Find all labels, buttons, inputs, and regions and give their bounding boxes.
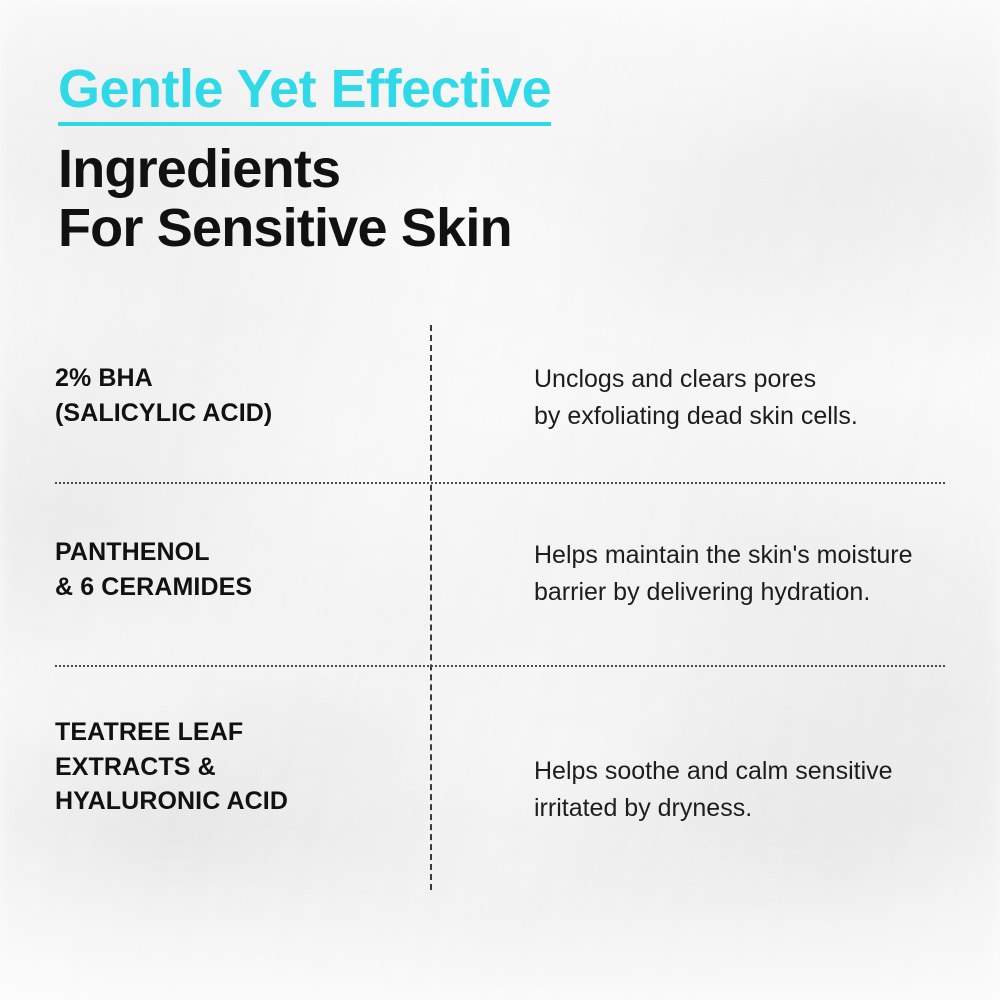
page-title-line-1: Ingredients bbox=[58, 140, 551, 199]
row-divider-2 bbox=[55, 665, 945, 667]
table-row: 2% BHA (SALICYLIC ACID) Unclogs and clea… bbox=[55, 361, 945, 434]
ingredient-description-line: barrier by delivering hydration. bbox=[534, 574, 945, 611]
row-divider-1 bbox=[55, 482, 945, 484]
ingredients-table: 2% BHA (SALICYLIC ACID) Unclogs and clea… bbox=[55, 325, 945, 890]
page-title-accent: Gentle Yet Effective bbox=[58, 62, 551, 126]
ingredient-name-line: (SALICYLIC ACID) bbox=[55, 396, 406, 431]
infographic-canvas: Gentle Yet Effective Ingredients For Sen… bbox=[0, 0, 1000, 1000]
ingredient-name-line: HYALURONIC ACID bbox=[55, 784, 406, 819]
ingredient-name-line: 2% BHA bbox=[55, 361, 406, 396]
ingredient-name: 2% BHA (SALICYLIC ACID) bbox=[55, 361, 430, 434]
ingredient-description: Unclogs and clears pores by exfoliating … bbox=[430, 361, 945, 434]
ingredient-description-line: Unclogs and clears pores bbox=[534, 361, 945, 398]
table-row: TEATREE LEAF EXTRACTS & HYALURONIC ACID … bbox=[55, 715, 945, 826]
ingredient-description: Helps maintain the skin's moisture barri… bbox=[430, 535, 945, 610]
table-row: PANTHENOL & 6 CERAMIDES Helps maintain t… bbox=[55, 535, 945, 610]
ingredient-name: TEATREE LEAF EXTRACTS & HYALURONIC ACID bbox=[55, 715, 430, 826]
ingredient-description-line: irritated by dryness. bbox=[534, 790, 945, 827]
ingredient-name: PANTHENOL & 6 CERAMIDES bbox=[55, 535, 430, 610]
page-title-main: Ingredients For Sensitive Skin bbox=[58, 140, 551, 258]
ingredient-description-line: by exfoliating dead skin cells. bbox=[534, 398, 945, 435]
page-title-line-2: For Sensitive Skin bbox=[58, 199, 551, 258]
ingredient-name-line: PANTHENOL bbox=[55, 535, 406, 570]
ingredient-description: Helps soothe and calm sensitive irritate… bbox=[430, 715, 945, 826]
ingredient-description-line: Helps soothe and calm sensitive bbox=[534, 753, 945, 790]
ingredient-name-line: EXTRACTS & bbox=[55, 750, 406, 785]
ingredient-description-line: Helps maintain the skin's moisture bbox=[534, 537, 945, 574]
content-root: Gentle Yet Effective Ingredients For Sen… bbox=[0, 0, 1000, 1000]
ingredient-name-line: TEATREE LEAF bbox=[55, 715, 406, 750]
page-title: Gentle Yet Effective Ingredients For Sen… bbox=[58, 62, 551, 258]
ingredient-name-line: & 6 CERAMIDES bbox=[55, 570, 406, 605]
